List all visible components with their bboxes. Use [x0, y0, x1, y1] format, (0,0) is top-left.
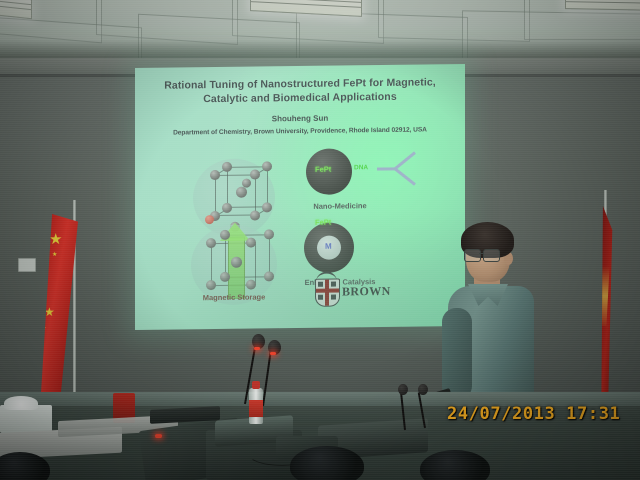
audience-head [420, 450, 490, 480]
tissue-sheet [4, 396, 38, 410]
bottle-cap [252, 381, 260, 389]
linker-label-dna: DNA [354, 164, 368, 171]
ceiling-light-fixture [0, 0, 32, 19]
lecture-photo: Rational Tuning of Nanostructured FePt f… [0, 0, 640, 480]
drop-ceiling [0, 0, 640, 58]
wall-outlet [18, 258, 36, 272]
bottle-label [249, 400, 263, 417]
antibody-icon [375, 149, 419, 190]
projection-screen: Rational Tuning of Nanostructured FePt f… [135, 64, 465, 330]
device-led-indicator [155, 434, 162, 438]
audience-head [290, 446, 364, 480]
eyeglasses-icon [464, 249, 498, 260]
camera-timestamp: 24/07/2013 17:31 [447, 404, 620, 424]
slide-title: Rational Tuning of Nanostructured FePt f… [147, 76, 453, 107]
ceiling-light-fixture [565, 0, 640, 11]
nanoparticle-label-fept: FePt [315, 165, 331, 174]
presenter-arm [442, 308, 472, 400]
